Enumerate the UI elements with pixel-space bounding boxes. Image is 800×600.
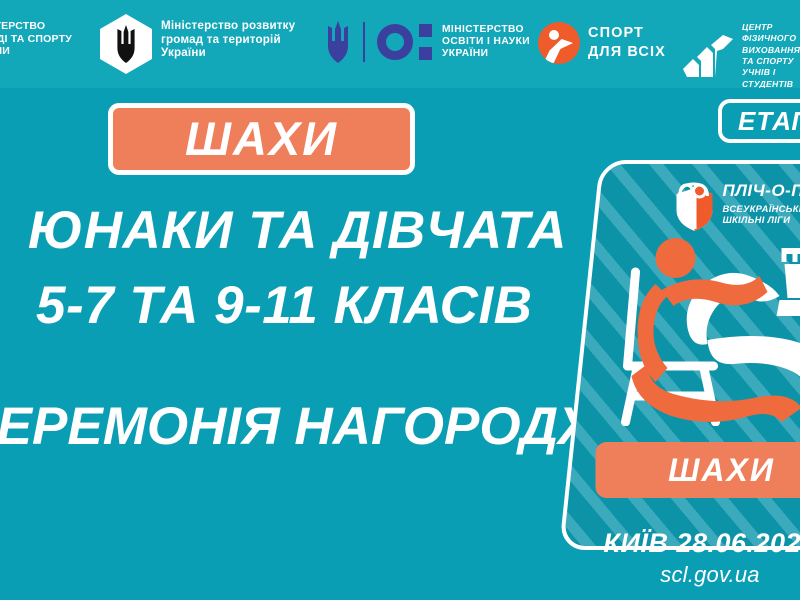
logo-ministry-of-youth-and-sports-label: МІНІСТЕРСТВО МОЛОДІ ТА СПОРТУ УКРАЇНИ: [0, 20, 72, 57]
tryzub-hex-icon: [100, 14, 152, 74]
arrow-chart-icon: [683, 35, 735, 77]
logo-center-of-physical-education: ЦЕНТР ФІЗИЧНОГО ВИХОВАННЯ ТА СПОРТУ УЧНІ…: [683, 22, 800, 88]
logo-ministry-of-education-and-science: МІНІСТЕРСТВО ОСВІТИ І НАУКИ УКРАЇНИ: [325, 20, 530, 64]
mon-colon-icon: [419, 24, 432, 60]
player-head: [656, 238, 696, 278]
mon-o-icon: [377, 24, 413, 60]
runner-circle-icon: [538, 22, 580, 64]
league-logo-text: ПЛІЧ-О-ПЛІЧ ВСЕУКРАЇНСЬКІ ШКІЛЬНІ ЛІГИ: [723, 182, 800, 226]
mon-o-colon-icon: [377, 24, 432, 60]
logo-sport-for-all-label: СПОРТ ДЛЯ ВСІХ: [588, 24, 666, 62]
city-date: КИЇВ 28.06.2025: [600, 528, 800, 559]
logo-ministry-of-communities-and-territories: Міністерство розвитку громад та територі…: [100, 14, 295, 74]
event-card: ПЛІЧ-О-ПЛІЧ ВСЕУКРАЇНСЬКІ ШКІЛЬНІ ЛІГИ: [559, 160, 800, 550]
logo-ministry-of-education-label: МІНІСТЕРСТВО ОСВІТИ І НАУКИ УКРАЇНИ: [442, 24, 530, 60]
partner-logos-header: МІНІСТЕРСТВО МОЛОДІ ТА СПОРТУ УКРАЇНИ Мі…: [0, 0, 800, 88]
sport-badge-main-label: ШАХИ: [185, 115, 338, 162]
sport-badge-main: ШАХИ: [108, 103, 415, 175]
logo-ministry-of-communities-label: Міністерство розвитку громад та територі…: [161, 19, 295, 60]
headline-line-2: 5-7 ТА 9-11 КЛАСІВ: [36, 280, 532, 331]
sport-badge-card: ШАХИ: [596, 442, 800, 498]
logo-divider: [363, 22, 365, 62]
tryzub-glyph-icon: [113, 25, 139, 63]
website-url: scl.gov.ua: [600, 562, 800, 588]
league-logo: ПЛІЧ-О-ПЛІЧ ВСЕУКРАЇНСЬКІ ШКІЛЬНІ ЛІГИ: [674, 182, 800, 232]
league-subtitle-1: ВСЕУКРАЇНСЬКІ: [723, 203, 800, 214]
shield-people-icon: [674, 182, 716, 232]
logo-sport-for-all: СПОРТ ДЛЯ ВСІХ: [538, 22, 666, 64]
banner-stage: МІНІСТЕРСТВО МОЛОДІ ТА СПОРТУ УКРАЇНИ Мі…: [0, 0, 800, 600]
logo-center-of-physical-education-label: ЦЕНТР ФІЗИЧНОГО ВИХОВАННЯ ТА СПОРТУ УЧНІ…: [742, 22, 800, 88]
chess-player-icon: [604, 236, 800, 426]
logo-ministry-of-youth-and-sports: МІНІСТЕРСТВО МОЛОДІ ТА СПОРТУ УКРАЇНИ: [0, 17, 72, 61]
stage-badge-label: ЕТАП: [738, 106, 800, 137]
league-subtitle-2: ШКІЛЬНІ ЛІГИ: [723, 214, 800, 225]
chess-rook-icon: [777, 248, 800, 316]
tryzub-icon: [325, 20, 351, 64]
stage-badge: ЕТАП: [718, 99, 800, 143]
league-title: ПЛІЧ-О-ПЛІЧ: [723, 182, 800, 199]
sport-badge-card-label: ШАХИ: [668, 454, 775, 486]
headline-line-1: ЮНАКИ ТА ДІВЧАТА: [28, 205, 567, 256]
